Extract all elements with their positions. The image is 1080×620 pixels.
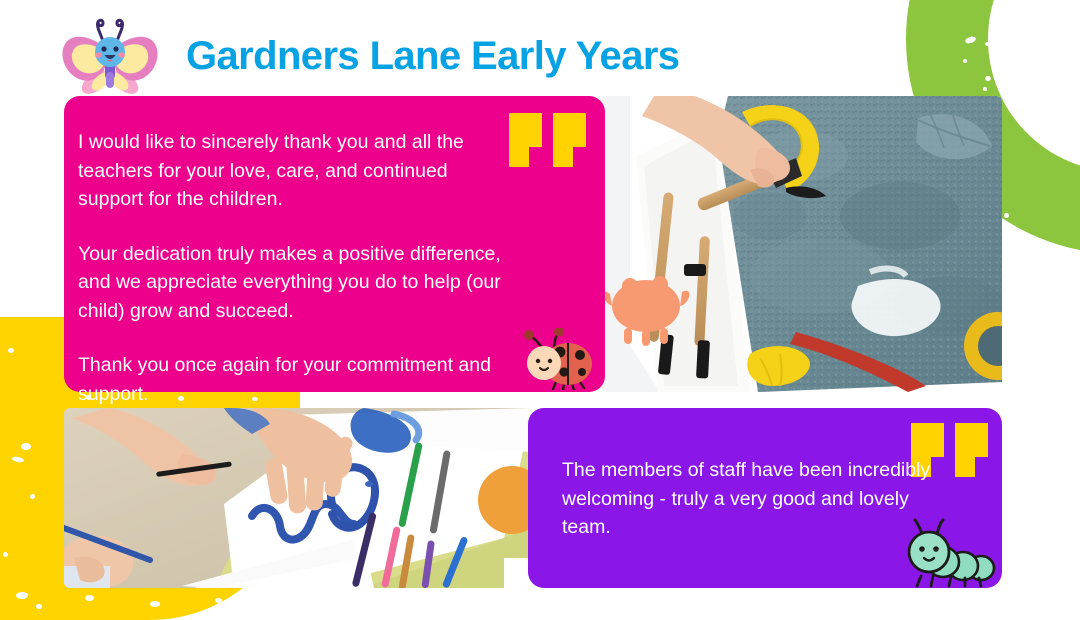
page-title: Gardners Lane Early Years [186, 34, 679, 79]
yellow-speck [30, 494, 35, 499]
green-speck [983, 87, 987, 91]
yellow-speck [150, 601, 160, 607]
butterfly-icon [52, 14, 168, 98]
testimonial-paragraph: The members of staff have been incredibl… [562, 456, 952, 542]
green-speck [1003, 44, 1011, 49]
quotation-mark-icon [509, 113, 586, 167]
testimonial-pink-text: I would like to sincerely thank you and … [78, 128, 506, 408]
testimonial-purple-text: The members of staff have been incredibl… [562, 456, 952, 542]
green-speck [1008, 292, 1013, 296]
green-speck [1010, 53, 1014, 57]
green-speck [985, 42, 991, 46]
photo-sand-tray [600, 96, 1002, 392]
page-header: Gardners Lane Early Years [52, 14, 679, 98]
green-speck [985, 76, 991, 81]
yellow-speck [215, 598, 222, 603]
green-speck [1018, 60, 1023, 65]
quote-glyph [509, 113, 542, 167]
green-speck [1014, 305, 1024, 312]
photo-drawing [64, 408, 532, 588]
yellow-speck [16, 592, 28, 599]
quote-glyph [553, 113, 586, 167]
ladybug-icon [520, 328, 598, 395]
testimonial-paragraph: Your dedication truly makes a positive d… [78, 240, 506, 326]
yellow-speck [85, 595, 94, 601]
green-speck [1012, 231, 1016, 235]
testimonial-paragraph: Thank you once again for your commitment… [78, 351, 506, 408]
green-speck [1024, 18, 1033, 23]
green-speck [1004, 213, 1009, 218]
green-speck [1053, 274, 1057, 278]
green-speck [1038, 34, 1043, 39]
green-speck [1026, 330, 1030, 334]
green-speck [1007, 248, 1015, 254]
poster-canvas: Gardners Lane Early Years [0, 0, 1080, 620]
yellow-speck [8, 348, 14, 353]
caterpillar-icon [903, 518, 999, 593]
quote-glyph [955, 423, 988, 477]
yellow-speck [3, 552, 8, 557]
yellow-speck [36, 604, 42, 609]
testimonial-paragraph: I would like to sincerely thank you and … [78, 128, 506, 214]
yellow-speck [21, 443, 31, 450]
green-speck [963, 59, 967, 63]
